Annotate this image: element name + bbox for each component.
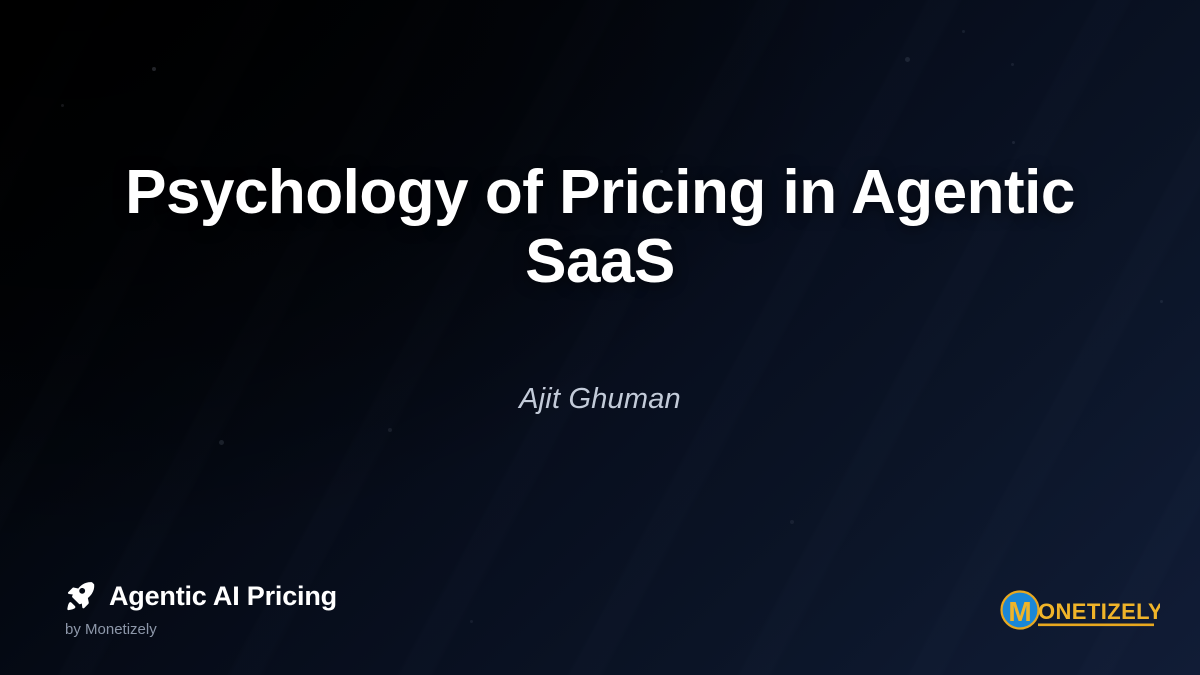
presentation-slide: Psychology of Pricing in Agentic SaaS Aj… <box>0 0 1200 675</box>
slide-title: Psychology of Pricing in Agentic SaaS <box>60 158 1140 297</box>
presenter-name: Ajit Ghuman <box>0 383 1200 416</box>
logo-wordmark: ONETIZELY <box>1038 599 1160 624</box>
subtitle-block: Ajit Ghuman <box>0 383 1200 416</box>
background-vignette <box>0 0 1200 675</box>
brand-byline: by Monetizely <box>65 622 337 637</box>
title-block: Psychology of Pricing in Agentic SaaS <box>0 158 1200 297</box>
footer-brand-row: Agentic AI Pricing <box>62 579 337 613</box>
background-stars <box>0 0 1200 675</box>
logo-mark-letter: M <box>1008 596 1031 627</box>
footer-brand: Agentic AI Pricing by Monetizely <box>62 579 337 637</box>
logo-underline <box>1038 624 1154 627</box>
background-streaks <box>0 0 1200 675</box>
brand-name: Agentic AI Pricing <box>109 583 337 610</box>
rocket-icon <box>62 579 96 613</box>
monetizely-logo-svg: M ONETIZELY <box>998 589 1160 635</box>
monetizely-logo: M ONETIZELY <box>998 589 1160 635</box>
